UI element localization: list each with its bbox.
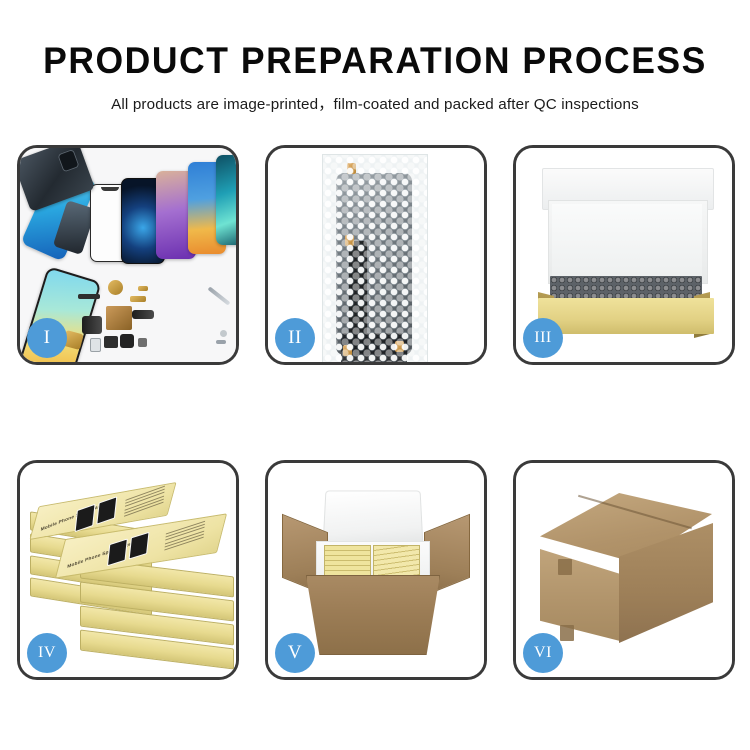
vibration-motor-part <box>78 294 100 299</box>
process-step-1[interactable]: I <box>17 145 239 365</box>
step-badge-1: I <box>27 318 67 358</box>
foam-lining <box>552 204 702 276</box>
screwdriver-bit <box>216 340 226 344</box>
screw-part <box>220 330 227 337</box>
carton-tape-lower <box>560 625 574 641</box>
button-part <box>138 338 147 347</box>
step-badge-6: VI <box>523 633 563 673</box>
bubble-wrap-bag <box>322 154 428 365</box>
step-badge-4: IV <box>27 633 67 673</box>
step-badge-3: III <box>523 318 563 358</box>
page-title: PRODUCT PREPARATION PROCESS <box>15 0 735 81</box>
process-step-6[interactable]: VI <box>513 460 735 680</box>
process-grid: I II III <box>17 145 735 680</box>
phone-display-teal <box>216 155 239 245</box>
process-step-3[interactable]: III <box>513 145 735 365</box>
camera-module-part <box>104 336 118 348</box>
page-subtitle: All products are image-printed，film-coat… <box>0 81 750 114</box>
process-step-4[interactable]: Mobile Phone Spare Parts Mobile P <box>17 460 239 680</box>
screw-tray-part <box>106 306 132 330</box>
box-spec-lines-rear <box>124 486 165 519</box>
step-badge-2: II <box>275 318 315 358</box>
step-badge-5: V <box>275 633 315 673</box>
box-thumb-image <box>75 504 96 532</box>
flex-ribbon-part <box>132 310 154 319</box>
carton-body <box>306 575 440 655</box>
sim-tray-part <box>90 338 101 352</box>
camera-lens-part <box>120 334 134 348</box>
tweezers-tool <box>208 286 231 305</box>
small-connector-part <box>138 286 148 291</box>
carton-left-face <box>540 549 620 641</box>
speaker-part <box>108 280 123 295</box>
box-thumb-image <box>96 496 117 524</box>
flex-cable-part <box>82 316 102 334</box>
box-thumb-image <box>107 538 128 566</box>
bubble-texture-overlay <box>323 155 427 365</box>
connector-part <box>130 296 146 302</box>
process-step-5[interactable]: V <box>265 460 487 680</box>
box-thumb-image <box>129 532 150 560</box>
foam-lid <box>322 490 423 547</box>
process-step-2[interactable]: II <box>265 145 487 365</box>
page-header: PRODUCT PREPARATION PROCESS All products… <box>0 0 750 114</box>
box-front-wall <box>538 298 714 334</box>
box-spec-lines-front <box>164 521 205 553</box>
box-thumbnails-front <box>107 532 150 567</box>
carton-tape-upper <box>558 559 572 575</box>
